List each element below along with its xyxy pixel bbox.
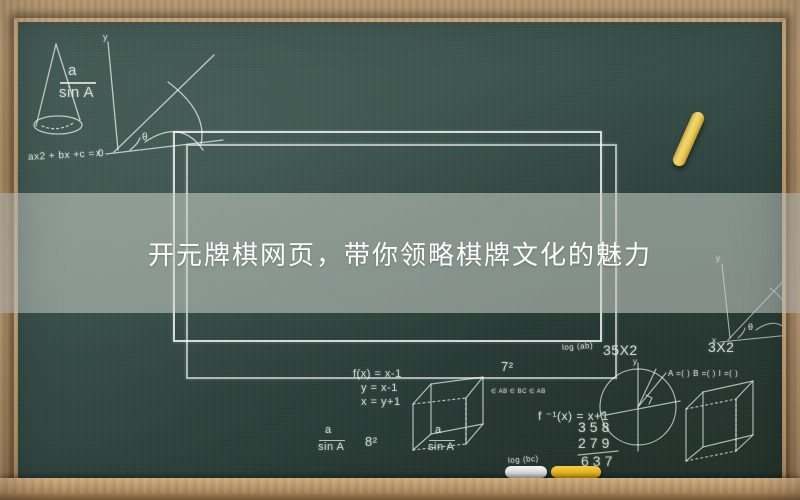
chalk-exponent-8: 8² <box>365 434 378 449</box>
chalk-function-line-3: x = y+1 <box>361 396 401 408</box>
chalk-right-angle-label-x: x <box>712 336 717 345</box>
chalk-fraction2-denominator: sin A <box>318 441 344 453</box>
chalk-subtraction-subtrahend: 279 <box>578 435 613 451</box>
chalk-right-angle-label-theta: θ <box>748 322 754 332</box>
chalk-subtraction-minuend: 358 <box>578 419 613 435</box>
chalk-axis-label-y: y <box>103 32 108 42</box>
chalk-circle-label-y: y <box>633 357 638 366</box>
chalk-piece-white <box>505 466 547 478</box>
chalk-axis-label-x: x <box>96 148 101 158</box>
chalk-piece-yellow <box>551 466 601 478</box>
chalk-matrix-row: A =( ) B =( ) I =( ) <box>668 369 738 378</box>
chalk-fraction3-numerator: a <box>435 424 442 436</box>
chalk-fraction2-numerator: a <box>325 424 332 436</box>
chalk-fraction-denominator: sin A <box>59 84 94 101</box>
chalk-set-relation: ∈ AB ∈ BC ∈ AB <box>491 388 546 395</box>
chalk-function-line-2: y = x-1 <box>361 382 398 394</box>
chalk-fraction3-denominator: sin A <box>428 441 454 453</box>
chalk-ledge-lip <box>0 494 800 500</box>
chalk-fraction-numerator: a <box>68 62 77 79</box>
banner-image: a sin A ax2 + bx +c = 0 y x θ f(x) = x-1… <box>0 0 800 500</box>
page-title: 开元牌棋网页，带你领略棋牌文化的魅力 <box>0 193 800 313</box>
chalk-angle-label-theta: θ <box>142 132 148 143</box>
